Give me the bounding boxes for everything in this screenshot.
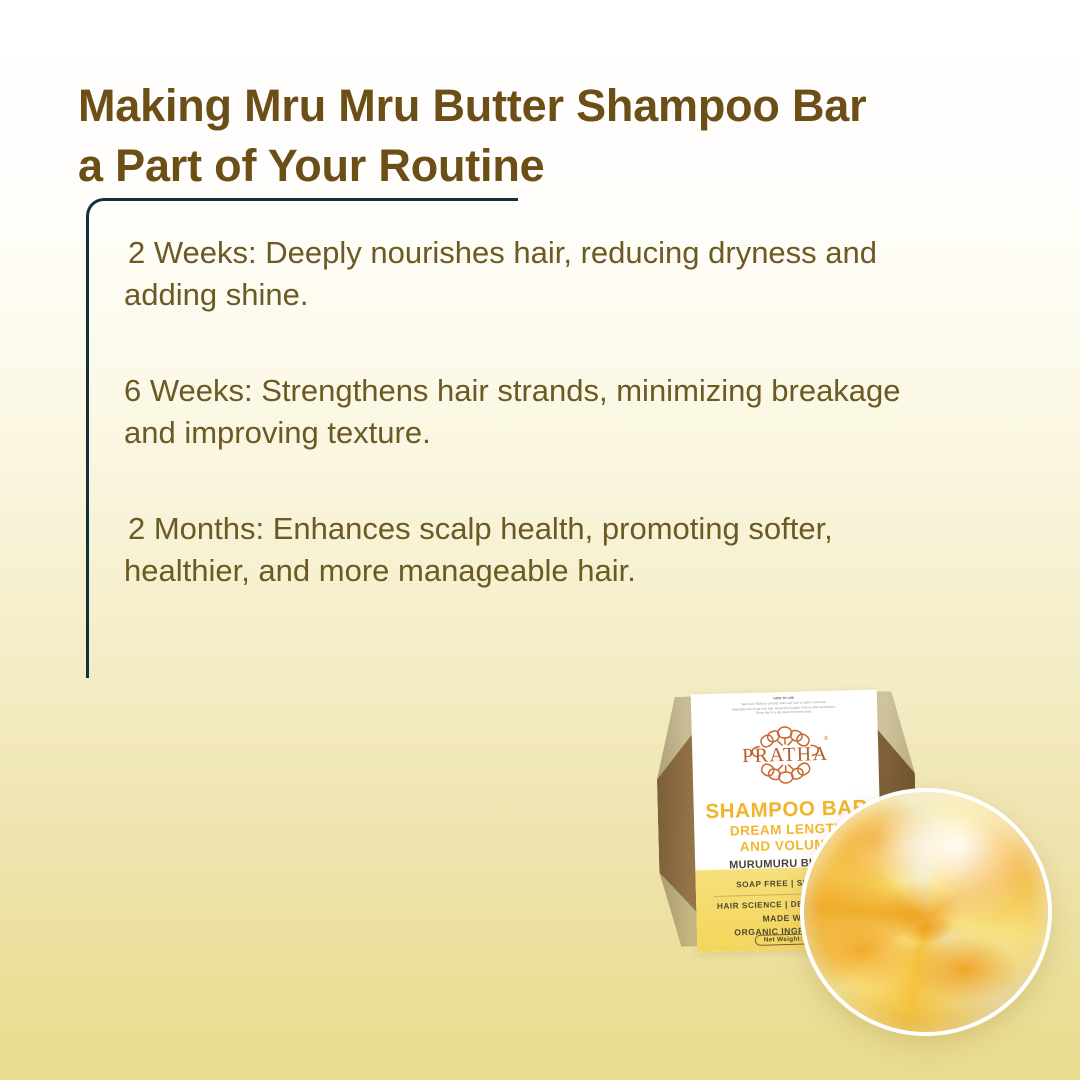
routine-item-6-weeks: 6 Weeks: Strengthens hair strands, minim… <box>128 370 1068 455</box>
pratha-wordmark: PRATHA <box>742 743 829 767</box>
page-title-line-2: a Part of Your Routine <box>78 136 1018 196</box>
product-image: HOW TO USE Wet hair. Rub bar directly on… <box>640 678 1080 1080</box>
pratha-logo-svg: PRATHA ® <box>726 722 846 787</box>
page-title: Making Mru Mru Butter Shampoo Bar a Part… <box>78 76 1018 196</box>
routine-item-2-months-line-2: healthier, and more manageable hair. <box>124 550 1068 592</box>
pratha-leaf-ornament-logo: PRATHA ® <box>692 722 880 789</box>
routine-item-2-months: 2 Months: Enhances scalp health, promoti… <box>128 508 1068 593</box>
routine-item-2-weeks-line-2: adding shine. <box>124 274 1068 316</box>
label-fineprint-line-4: Store bar in a dry place between uses. <box>756 710 813 715</box>
routine-item-2-months-line-1: 2 Months: Enhances scalp health, promoti… <box>128 508 1068 550</box>
routine-item-2-weeks-line-1: 2 Weeks: Deeply nourishes hair, reducing… <box>128 232 1068 274</box>
routine-item-6-weeks-line-1: 6 Weeks: Strengthens hair strands, minim… <box>124 370 1068 412</box>
poster-canvas: Making Mru Mru Butter Shampoo Bar a Part… <box>0 0 1080 1080</box>
shampoo-bar-gloss <box>843 806 994 888</box>
shampoo-bar-disc <box>800 788 1052 1036</box>
registered-mark: ® <box>824 735 829 742</box>
page-title-line-1: Making Mru Mru Butter Shampoo Bar <box>78 76 1018 136</box>
routine-item-2-weeks: 2 Weeks: Deeply nourishes hair, reducing… <box>128 232 1068 317</box>
routine-item-6-weeks-line-2: and improving texture. <box>124 412 1068 454</box>
routine-list: 2 Weeks: Deeply nourishes hair, reducing… <box>128 232 1068 593</box>
label-fineprint: HOW TO USE Wet hair. Rub bar directly on… <box>707 694 861 717</box>
